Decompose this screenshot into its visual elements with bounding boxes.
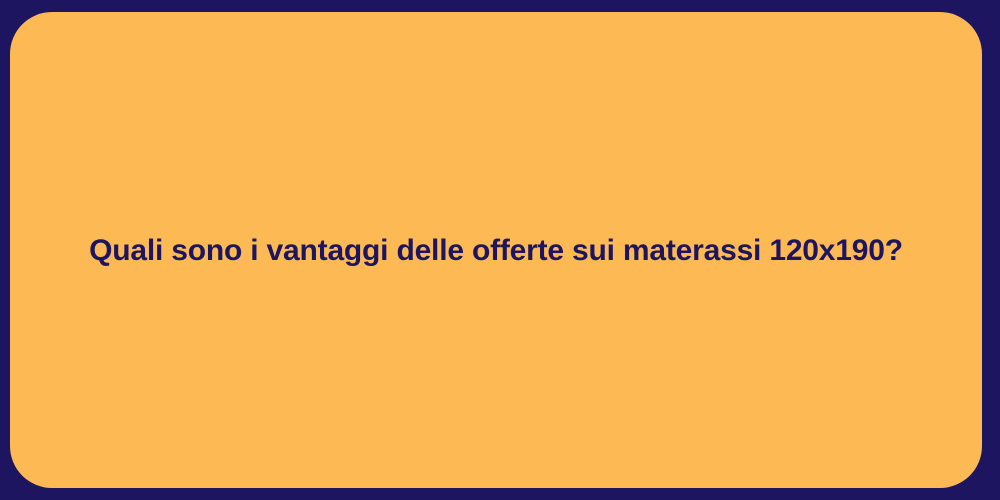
page-title: Quali sono i vantaggi delle offerte sui … (49, 232, 943, 270)
headline-card: Quali sono i vantaggi delle offerte sui … (10, 12, 982, 488)
banner-container: Quali sono i vantaggi delle offerte sui … (0, 0, 1000, 500)
